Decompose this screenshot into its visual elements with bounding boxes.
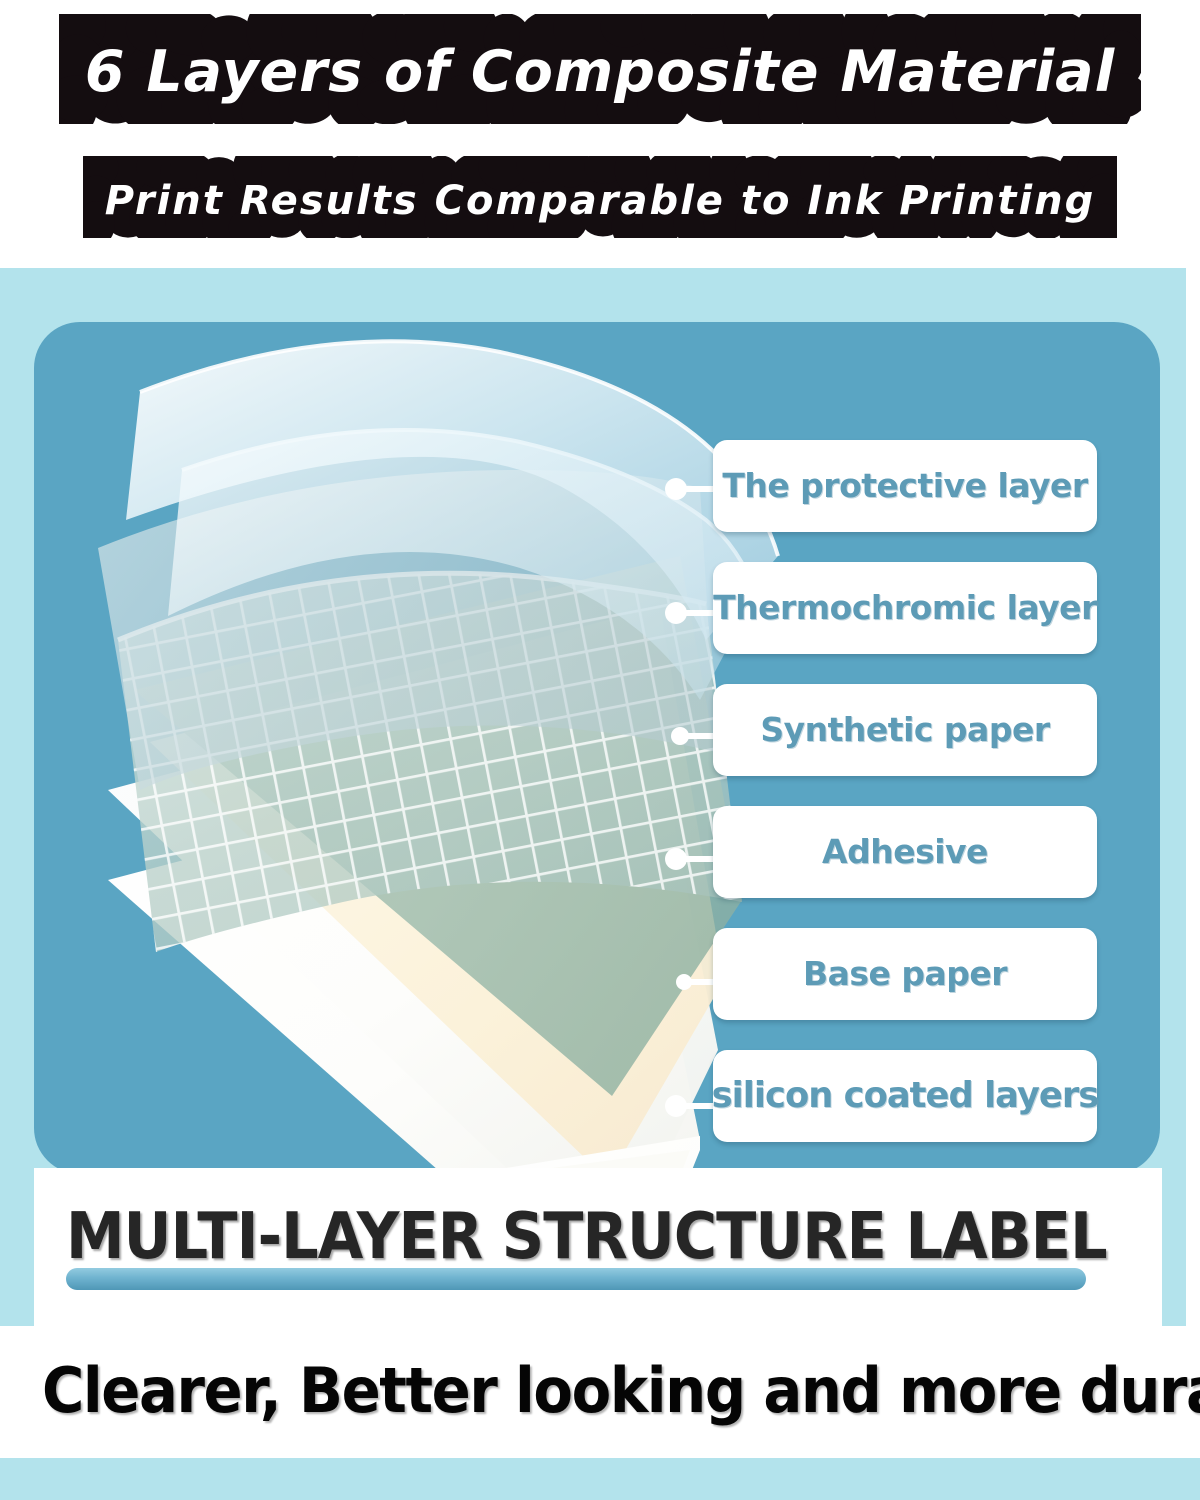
label-text: Thermochromic layer: [713, 590, 1097, 626]
headline-primary-line: 6 Layers of Composite Material: [0, 36, 1200, 108]
label-box-thermochromic-layer[interactable]: Thermochromic layer: [713, 562, 1097, 654]
label-text: Synthetic paper: [760, 712, 1049, 748]
label-box-base-paper[interactable]: Base paper: [713, 928, 1097, 1020]
label-text: Adhesive: [822, 834, 988, 870]
headline-secondary-ink: Print Results Comparable to Ink Printing: [105, 174, 1095, 228]
label-text: The protective layer: [722, 468, 1087, 504]
headline-secondary-line: Print Results Comparable to Ink Printing: [0, 174, 1200, 228]
headline-primary-text: 6 Layers of Composite Material: [85, 39, 1115, 105]
tagline: Clearer, Better looking and more durable: [42, 1352, 1158, 1430]
right-white-strip: [1186, 268, 1200, 1326]
header: 6 Layers of Composite Material Print Res…: [0, 0, 1200, 268]
bottom-cyan-strip: [0, 1458, 1200, 1500]
headline-primary-ink: 6 Layers of Composite Material: [85, 36, 1115, 108]
structure-title: MULTI-LAYER STRUCTURE LABEL: [66, 1196, 1050, 1278]
label-box-protective-layer[interactable]: The protective layer: [713, 440, 1097, 532]
label-box-adhesive[interactable]: Adhesive: [713, 806, 1097, 898]
label-text: Base paper: [803, 956, 1007, 992]
label-box-synthetic-paper[interactable]: Synthetic paper: [713, 684, 1097, 776]
infographic-page: The protective layer Thermochromic layer…: [0, 0, 1200, 1500]
label-box-silicon-coated-layers[interactable]: silicon coated layers: [713, 1050, 1097, 1142]
label-text: silicon coated layers: [709, 1078, 1101, 1114]
headline-secondary-text: Print Results Comparable to Ink Printing: [105, 178, 1095, 224]
layer-label-list: The protective layer Thermochromic layer…: [713, 440, 1103, 1172]
structure-title-block: MULTI-LAYER STRUCTURE LABEL: [0, 1196, 1200, 1306]
